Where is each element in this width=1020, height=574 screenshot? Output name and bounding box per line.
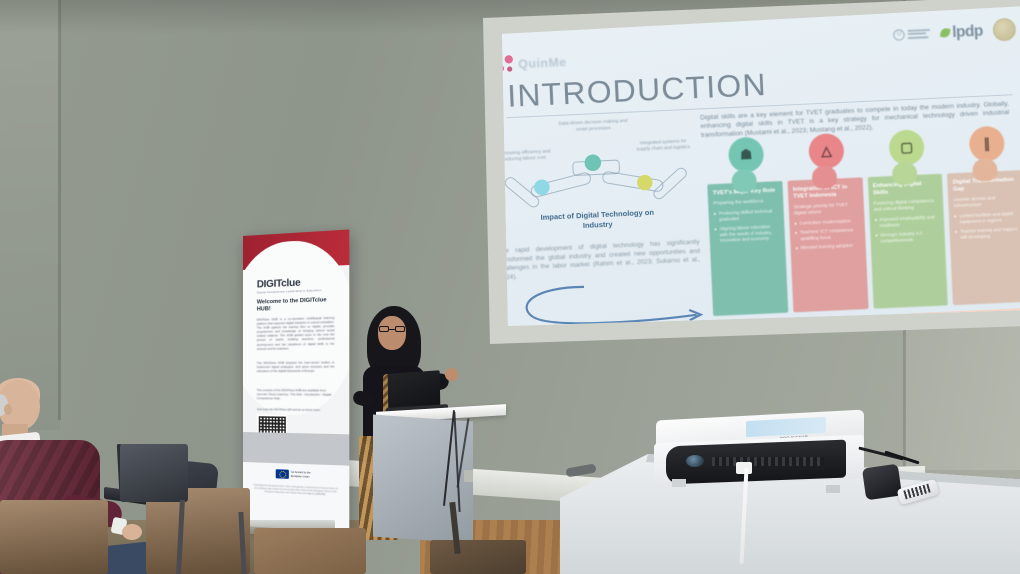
- diagram-annotation-1: Data-driven decision making and smart pr…: [554, 118, 633, 134]
- projector-vent-grille: [712, 457, 824, 466]
- chair-back-shading: [0, 500, 108, 574]
- slide-brand-logo: QuinMe: [493, 53, 567, 75]
- card-bullet: Producing skilled technical graduates: [714, 208, 779, 223]
- card-bullet: Teachers' ICT competence upskilling focu…: [795, 227, 860, 242]
- eu-funding-logo: Co-funded by the European Union: [276, 469, 320, 480]
- wall-left-panel: [0, 0, 60, 430]
- banner-paragraph-3: The courses of the DIGITclue HUB are ava…: [257, 388, 335, 401]
- chair-back: [430, 540, 526, 574]
- pillars-icon: ∥: [969, 126, 1006, 163]
- slide-card: Enhancing Digital Skills Fostering digit…: [867, 174, 948, 309]
- card-bullet: Curriculum modernisation: [794, 218, 859, 227]
- power-adapter[interactable]: [862, 464, 902, 501]
- banner-paragraph-1: DIGITclue HUB is a co-operative multilin…: [257, 316, 335, 351]
- projected-slide: QuinMe U lpdp INTRODUCTION Digital skill…: [476, 0, 1020, 346]
- banner-paragraph-2: The DIGITclue HUB targeted the inter-sec…: [257, 360, 335, 373]
- banner-heading: Welcome to the DIGITclue HUB!: [257, 297, 335, 315]
- card-bullet: Blended learning adoption: [795, 242, 860, 251]
- chair-headrest: [120, 444, 188, 502]
- graduation-cap-icon: ☗: [728, 136, 765, 173]
- presenter-face: [378, 316, 406, 350]
- presentation-room-scene: QuinMe U lpdp INTRODUCTION Digital skill…: [0, 0, 1020, 574]
- slide-card: TVET's Major Key Role Preparing the work…: [707, 181, 788, 316]
- card-bullet: Teacher training and support still devel…: [955, 226, 1020, 241]
- presenter-right-hand: [445, 368, 458, 381]
- card-bullet: Improved employability and readiness: [874, 214, 939, 229]
- card-bullet: Stronger industry 4.0 competitiveness: [875, 230, 940, 245]
- university-logo-icon: U: [893, 27, 931, 40]
- projector-lens-icon: [686, 455, 704, 467]
- projector[interactable]: PROJECTOR: [650, 415, 870, 501]
- card-subtitle: Fostering digital competence and critica…: [873, 198, 938, 213]
- lpdp-logo-icon: lpdp: [941, 22, 984, 41]
- card-bullet: Limited facilities and digital equipment…: [954, 211, 1019, 226]
- slide-card: Integration of ICT in TVET Indonesia Str…: [787, 177, 868, 312]
- monitor-icon: ▢: [888, 129, 925, 166]
- gold-seal-icon: [993, 18, 1017, 42]
- slide-card: Digital Transformation Gap Uneven access…: [947, 170, 1020, 305]
- eyeglasses-icon: [379, 326, 405, 333]
- impact-diagram: Data-driven decision making and smart pr…: [492, 115, 699, 248]
- factory-icon: △: [808, 133, 845, 170]
- attendee-ear: [4, 404, 12, 415]
- lpdp-logo-label: lpdp: [952, 22, 983, 41]
- slide-partner-logos: U lpdp: [893, 18, 1016, 46]
- slide-logo-label: QuinMe: [518, 55, 567, 72]
- diagram-annotation-2: Integrated systems for supply chain and …: [633, 138, 693, 153]
- card-subtitle: Uneven access and infrastructure: [953, 194, 1018, 209]
- card-bullet: Aligning labour education with the needs…: [714, 223, 779, 244]
- card-subtitle: Strategic priority for TVET digital refo…: [793, 202, 858, 217]
- card-subtitle: Preparing the workforce: [713, 198, 778, 207]
- slide-card-row: TVET's Major Key Role Preparing the work…: [707, 170, 1020, 316]
- wall-outlet-box[interactable]: [464, 470, 473, 482]
- banner-scan-label: Just scan the DIGITclue QR and let us kn…: [257, 407, 321, 412]
- rollup-banner: DIGITclue Digital Competence Leadership …: [243, 229, 349, 532]
- eu-flag-icon: [276, 469, 289, 479]
- projector-foot: [826, 485, 840, 493]
- eu-funding-label: Co-funded by the European Union: [291, 471, 320, 479]
- attendee-hand: [122, 524, 142, 540]
- wall-seam-left: [58, 0, 61, 420]
- projector-foot: [672, 479, 686, 487]
- diagram-title: Impact of Digital Technology on Industry: [537, 207, 657, 232]
- chair-back: [254, 528, 366, 574]
